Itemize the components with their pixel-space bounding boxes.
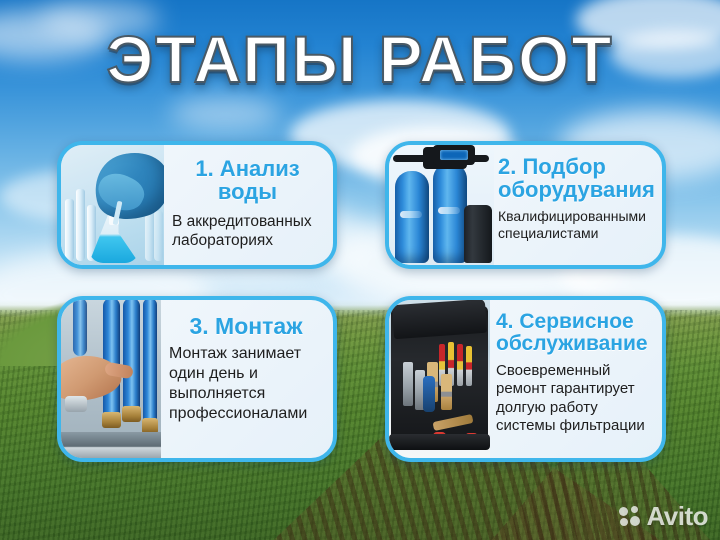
step-card-1-heading: 1. Анализ воды — [172, 153, 323, 206]
water-softener-tanks-photo — [389, 145, 494, 265]
step-card-4-body: 4. Сервисное обслуживание Своевременный … — [490, 300, 662, 458]
page-title: ЭТАПЫ РАБОТ — [0, 26, 720, 92]
step-card-2-heading: 2. Подбор оборудувания — [498, 153, 655, 203]
avito-watermark: Avito — [619, 501, 708, 532]
step-card-3-heading: 3. Монтаж — [169, 308, 323, 342]
step-card-4-heading: 4. Сервисное обслуживание — [496, 308, 652, 358]
step-card-3[interactable]: 3. Монтаж Монтаж занимает один день и вы… — [57, 296, 337, 462]
step-card-2[interactable]: 2. Подбор оборудувания Квалифицированным… — [385, 141, 666, 269]
tool-bag-photo — [389, 300, 490, 458]
step-card-3-body: 3. Монтаж Монтаж занимает один день и вы… — [161, 300, 333, 458]
step-card-2-body: 2. Подбор оборудувания Квалифицированным… — [494, 145, 665, 265]
step-card-4[interactable]: 4. Сервисное обслуживание Своевременный … — [385, 296, 666, 462]
step-card-1[interactable]: 1. Анализ воды В аккредитованных лаборат… — [57, 141, 337, 269]
step-card-1-body: 1. Анализ воды В аккредитованных лаборат… — [164, 145, 333, 265]
step-card-3-text: Монтаж занимает один день и выполняется … — [169, 344, 323, 423]
step-card-1-text: В аккредитованных лабораториях — [172, 212, 323, 250]
step-card-2-text: Квалифицированными специалистами — [498, 208, 655, 243]
avito-logo-icon — [619, 506, 641, 528]
water-analysis-lab-photo — [61, 145, 164, 265]
avito-wordmark: Avito — [646, 501, 708, 532]
step-card-4-text: Своевременный ремонт гарантирует долгую … — [496, 362, 652, 436]
pipe-installation-photo — [61, 300, 161, 458]
